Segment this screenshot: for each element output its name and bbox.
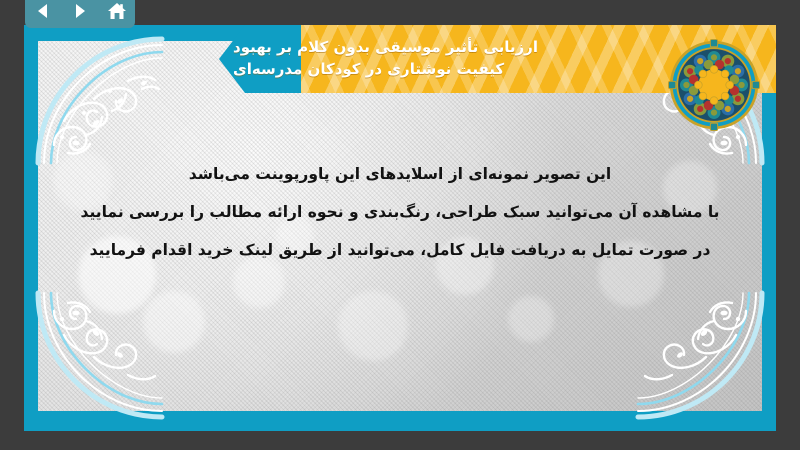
slide-inner-panel: این تصویر نمونه‌ای از اسلایدهای این پاور… [38,41,762,411]
body-line: در صورت تمایل به دریافت فایل کامل، می‌تو… [78,232,722,270]
bokeh-circle [508,296,554,342]
next-slide-button[interactable] [68,0,92,23]
triangle-left-icon [33,1,53,21]
title-line: کیفیت نوشتاری در کودکان مدرسه‌ای [233,59,504,81]
title-line: ارزیابی تأثیر موسیقی بدون کلام بر بهبود [233,37,538,59]
bokeh-circle [143,291,205,353]
previous-slide-button[interactable] [31,0,55,23]
slide-viewer: این تصویر نمونه‌ای از اسلایدهای این پاور… [0,0,800,450]
home-button[interactable] [105,0,129,23]
slide-body-text: این تصویر نمونه‌ای از اسلایدهای این پاور… [78,156,722,270]
bokeh-circle [338,291,408,361]
home-icon [106,0,128,22]
body-line: این تصویر نمونه‌ای از اسلایدهای این پاور… [78,156,722,194]
triangle-right-icon [70,1,90,21]
slide-canvas: این تصویر نمونه‌ای از اسلایدهای این پاور… [24,25,776,431]
navigation-toolbar[interactable] [25,0,135,28]
decorative-medallion [668,39,760,131]
body-line: با مشاهده آن می‌توانید سبک طراحی، رنگ‌بن… [78,194,722,232]
